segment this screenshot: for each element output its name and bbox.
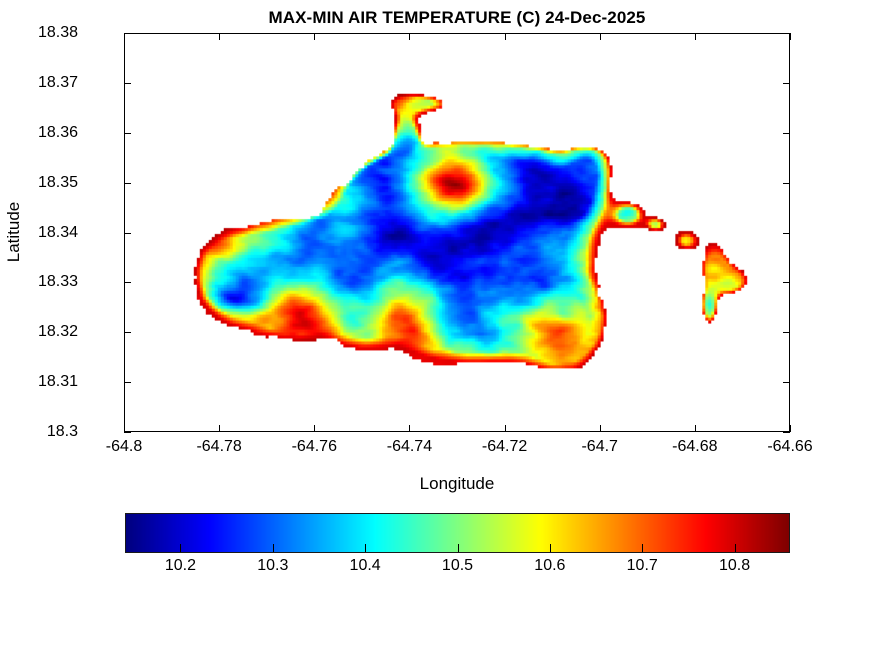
y-tick-label: 18.36 <box>38 124 78 142</box>
colorbar-tick-mark <box>642 544 643 552</box>
y-tick-mark <box>783 33 790 34</box>
y-tick-mark <box>783 382 790 383</box>
y-tick-label: 18.3 <box>47 423 78 441</box>
y-tick-mark <box>783 183 790 184</box>
map-axes[interactable] <box>124 33 790 432</box>
x-tick-mark <box>600 33 601 40</box>
colorbar-tick-mark <box>550 544 551 552</box>
y-tick-label: 18.32 <box>38 323 78 341</box>
y-tick-label: 18.33 <box>38 273 78 291</box>
x-tick-label: -64.68 <box>672 438 717 456</box>
y-tick-mark <box>124 183 131 184</box>
y-tick-mark <box>783 233 790 234</box>
colorbar-tick-label: 10.2 <box>165 557 196 575</box>
y-tick-mark <box>124 432 131 433</box>
x-tick-label: -64.74 <box>387 438 432 456</box>
y-tick-mark <box>124 233 131 234</box>
colorbar-tick-label: 10.8 <box>719 557 750 575</box>
y-tick-label: 18.34 <box>38 224 78 242</box>
colorbar-tick-mark <box>458 544 459 552</box>
x-tick-label: -64.66 <box>767 438 812 456</box>
x-tick-mark <box>219 33 220 40</box>
y-tick-mark <box>124 382 131 383</box>
x-tick-mark <box>695 425 696 432</box>
y-tick-label: 18.38 <box>38 24 78 42</box>
colorbar-tick-mark <box>180 544 181 552</box>
y-axis-title: Latitude <box>4 202 24 263</box>
colorbar-tick-label: 10.6 <box>534 557 565 575</box>
x-tick-mark <box>790 33 791 40</box>
x-tick-label: -64.78 <box>196 438 241 456</box>
x-tick-label: -64.8 <box>106 438 142 456</box>
y-tick-mark <box>124 332 131 333</box>
y-tick-mark <box>124 83 131 84</box>
colorbar-tick-label: 10.3 <box>257 557 288 575</box>
temperature-heatmap <box>125 34 789 431</box>
x-tick-mark <box>124 33 125 40</box>
x-tick-mark <box>600 425 601 432</box>
x-tick-label: -64.7 <box>581 438 617 456</box>
x-tick-mark <box>790 425 791 432</box>
y-tick-mark <box>783 332 790 333</box>
y-tick-mark <box>783 432 790 433</box>
x-axis-title: Longitude <box>124 474 790 494</box>
x-tick-mark <box>314 33 315 40</box>
colorbar-tick-mark <box>735 544 736 552</box>
colorbar-tick-mark <box>365 544 366 552</box>
colorbar-tick-label: 10.5 <box>442 557 473 575</box>
y-tick-label: 18.31 <box>38 373 78 391</box>
x-tick-mark <box>505 425 506 432</box>
x-tick-mark <box>219 425 220 432</box>
y-tick-mark <box>124 133 131 134</box>
y-tick-mark <box>124 33 131 34</box>
x-tick-mark <box>409 425 410 432</box>
x-tick-label: -64.72 <box>482 438 527 456</box>
y-tick-mark <box>124 282 131 283</box>
x-tick-label: -64.76 <box>292 438 337 456</box>
colorbar-tick-label: 10.4 <box>350 557 381 575</box>
y-tick-mark <box>783 282 790 283</box>
x-tick-mark <box>124 425 125 432</box>
page-title: MAX-MIN AIR TEMPERATURE (C) 24-Dec-2025 <box>124 8 790 28</box>
x-tick-mark <box>314 425 315 432</box>
y-tick-label: 18.35 <box>38 174 78 192</box>
x-tick-mark <box>505 33 506 40</box>
y-tick-mark <box>783 83 790 84</box>
colorbar-tick-label: 10.7 <box>627 557 658 575</box>
y-tick-mark <box>783 133 790 134</box>
colorbar-tick-mark <box>273 544 274 552</box>
x-tick-mark <box>409 33 410 40</box>
x-tick-mark <box>695 33 696 40</box>
y-tick-label: 18.37 <box>38 74 78 92</box>
figure-canvas: MAX-MIN AIR TEMPERATURE (C) 24-Dec-2025 … <box>0 0 875 656</box>
